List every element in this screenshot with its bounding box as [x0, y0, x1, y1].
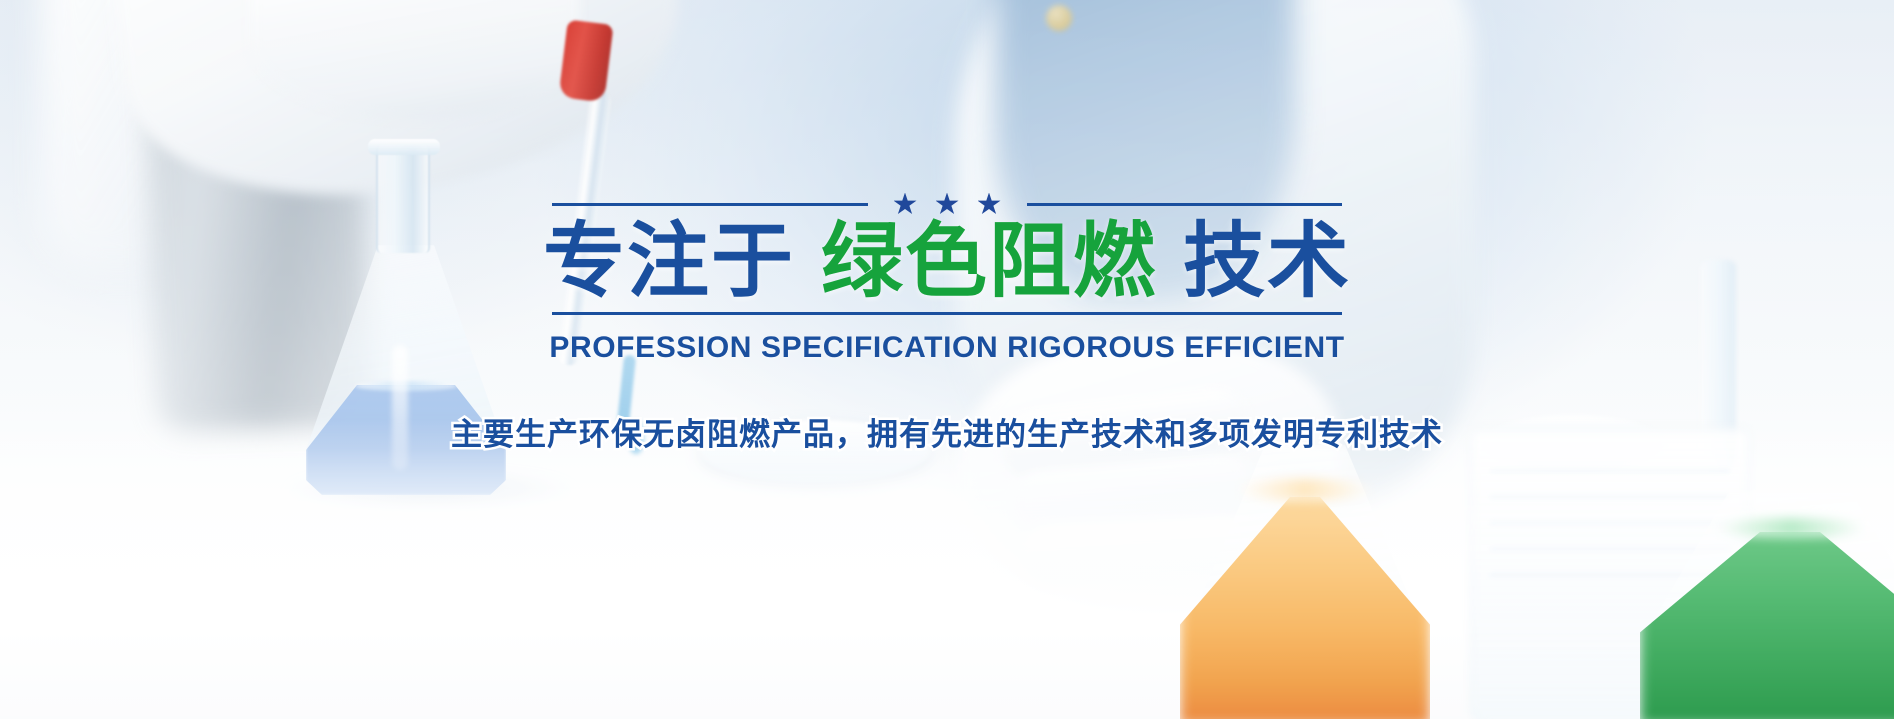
bottom-divider-line	[552, 312, 1342, 315]
title-part-green-flame-retardant: 绿色阻燃	[821, 216, 1157, 307]
star-icon	[936, 193, 959, 216]
top-divider	[552, 193, 1342, 215]
page-title: 专注于绿色阻燃技术	[543, 221, 1351, 303]
hero-banner: 专注于绿色阻燃技术 PROFESSION SPECIFICATION RIGOR…	[0, 0, 1894, 719]
banner-content: 专注于绿色阻燃技术 PROFESSION SPECIFICATION RIGOR…	[0, 0, 1894, 719]
title-part-technology: 技术	[1183, 216, 1351, 307]
page-tagline: 主要生产环保无卤阻燃产品，拥有先进的生产技术和多项发明专利技术	[451, 409, 1443, 454]
star-icon	[894, 193, 917, 216]
divider-line-left	[552, 203, 868, 206]
title-part-focus: 专注于	[543, 216, 795, 307]
star-icon	[978, 193, 1001, 216]
star-group	[868, 193, 1027, 216]
divider-line-right	[1027, 203, 1343, 206]
page-subtitle: PROFESSION SPECIFICATION RIGOROUS EFFICI…	[549, 331, 1344, 365]
